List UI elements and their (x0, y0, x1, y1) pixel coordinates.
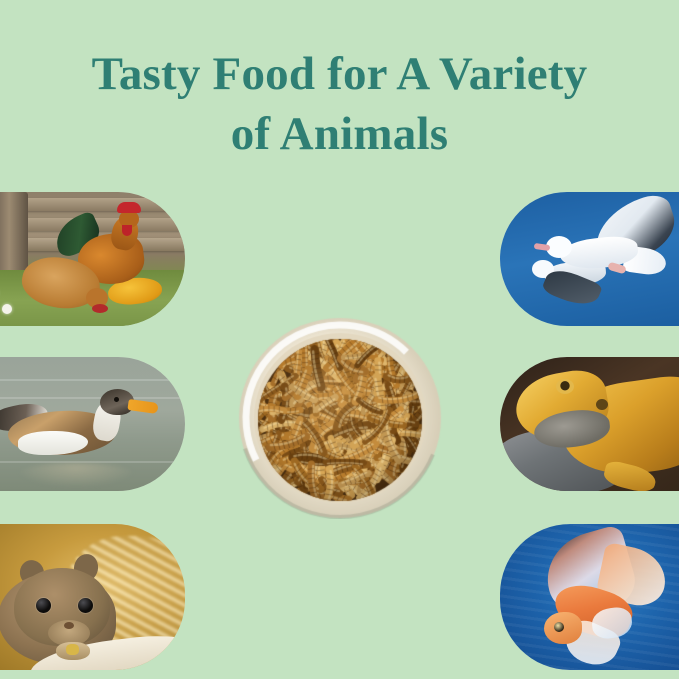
page-title: Tasty Food for A Variety of Animals (0, 44, 679, 164)
hen-comb (92, 304, 108, 313)
hamster-right-eye (78, 598, 93, 613)
food-seed (66, 644, 79, 655)
animal-photo-duck (0, 357, 185, 491)
animal-photo-seagull (500, 192, 679, 326)
animal-photo-fish-frame (500, 524, 679, 670)
bearded-dragon-scene (500, 357, 679, 491)
title-line-2: of Animals (0, 104, 679, 164)
animal-photo-lizard-frame (500, 357, 679, 491)
product-poster: Tasty Food for A Variety of Animals (0, 0, 679, 679)
duck-bill (127, 399, 158, 414)
hamster-left-eye (36, 598, 51, 613)
animal-photo-hamster (0, 524, 185, 670)
betta-fish-scene (500, 524, 679, 670)
water-ripple (0, 379, 185, 381)
title-line-1: Tasty Food for A Variety (0, 44, 679, 104)
hamster-scene (0, 524, 185, 670)
animal-photo-duck-frame (0, 357, 185, 491)
lizard-eye (556, 379, 574, 394)
duck-reflection (16, 463, 136, 487)
animal-photo-lizard (500, 357, 679, 491)
rooster-wattle (122, 225, 132, 236)
hamster-nose (64, 622, 74, 629)
chickens-scene (0, 192, 185, 326)
daisy-flower (2, 304, 12, 314)
animal-photo-fish (500, 524, 679, 670)
animal-photo-chickens (0, 192, 185, 326)
mealworm-bowl (238, 317, 442, 519)
mealworm-bowl-canvas (238, 317, 442, 519)
animal-photo-chickens-frame (0, 192, 185, 326)
duck-scene (0, 357, 185, 491)
duck-eye (114, 397, 119, 402)
wooden-post (0, 192, 28, 274)
animal-photo-seagull-frame (500, 192, 679, 326)
rooster-comb (117, 202, 141, 213)
fish-eye (554, 622, 564, 632)
lizard-ear (596, 399, 608, 410)
animal-photo-hamster-frame (0, 524, 185, 670)
seagull-scene (500, 192, 679, 326)
water-ripple (0, 397, 185, 399)
seagull-beak (534, 243, 551, 251)
